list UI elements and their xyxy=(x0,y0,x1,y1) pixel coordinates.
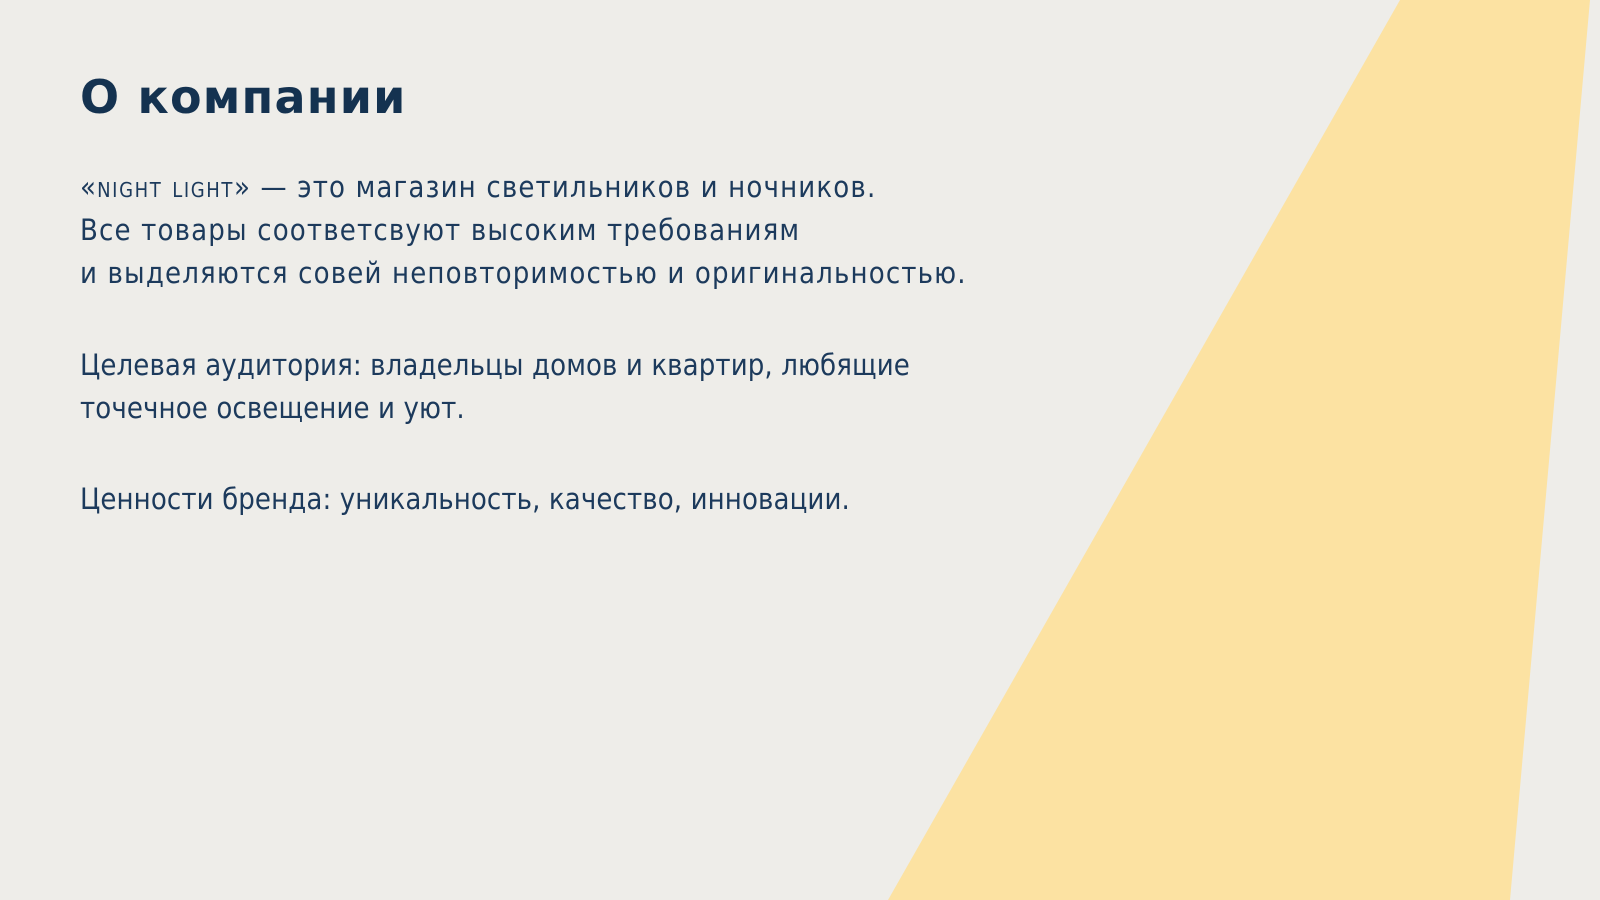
slide-content: О компании «Night Light» — это магазин с… xyxy=(80,72,1140,521)
quote-close: » xyxy=(234,170,251,204)
quote-open: « xyxy=(80,170,97,204)
page-title-text: О компании xyxy=(80,70,407,124)
audience-paragraph: Целевая аудитория: владельцы домов и ква… xyxy=(80,344,1140,430)
slide-canvas: О компании «Night Light» — это магазин с… xyxy=(0,0,1600,900)
values-paragraph: Ценности бренда: уникальность, качество,… xyxy=(80,478,1140,521)
brand-name: Night Light xyxy=(97,170,234,204)
intro-paragraph: «Night Light» — это магазин светильников… xyxy=(80,166,1140,295)
page-title: О компании xyxy=(80,72,1140,124)
